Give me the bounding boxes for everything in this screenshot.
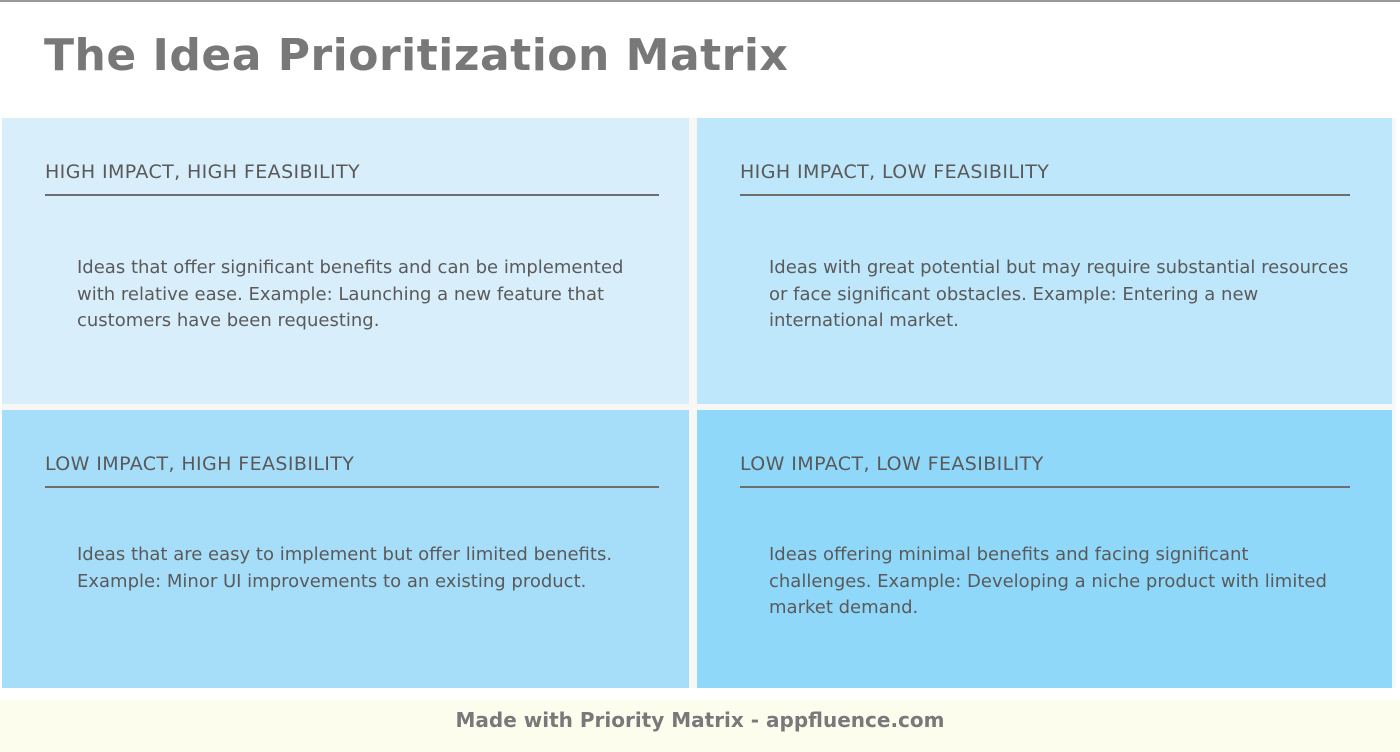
quadrant-high-impact-high-feasibility[interactable]: HIGH IMPACT, HIGH FEASIBILITY Ideas that… [2, 118, 689, 404]
quadrant-high-impact-low-feasibility[interactable]: HIGH IMPACT, LOW FEASIBILITY Ideas with … [697, 118, 1392, 404]
prioritization-matrix: HIGH IMPACT, HIGH FEASIBILITY Ideas that… [2, 118, 1396, 688]
title-bar: The Idea Prioritization Matrix [0, 2, 1400, 118]
quadrant-description: Ideas with great potential but may requi… [769, 255, 1349, 335]
quadrant-header-rule [45, 486, 659, 488]
quadrant-header-rule [740, 194, 1350, 196]
quadrant-header: LOW IMPACT, HIGH FEASIBILITY [45, 452, 354, 476]
footer-attribution[interactable]: Made with Priority Matrix - appfluence.c… [0, 700, 1400, 734]
quadrant-description: Ideas that are easy to implement but off… [77, 542, 637, 595]
quadrant-header: HIGH IMPACT, LOW FEASIBILITY [740, 160, 1049, 184]
quadrant-description: Ideas offering minimal benefits and faci… [769, 542, 1349, 622]
page-title: The Idea Prioritization Matrix [44, 28, 788, 84]
quadrant-low-impact-low-feasibility[interactable]: LOW IMPACT, LOW FEASIBILITY Ideas offeri… [697, 410, 1392, 688]
quadrant-header-rule [45, 194, 659, 196]
quadrant-header: HIGH IMPACT, HIGH FEASIBILITY [45, 160, 360, 184]
quadrant-description: Ideas that offer significant benefits an… [77, 255, 637, 335]
quadrant-header: LOW IMPACT, LOW FEASIBILITY [740, 452, 1044, 476]
footer-bar: Made with Priority Matrix - appfluence.c… [0, 700, 1400, 752]
quadrant-header-rule [740, 486, 1350, 488]
quadrant-low-impact-high-feasibility[interactable]: LOW IMPACT, HIGH FEASIBILITY Ideas that … [2, 410, 689, 688]
matrix-page: The Idea Prioritization Matrix HIGH IMPA… [0, 0, 1400, 750]
